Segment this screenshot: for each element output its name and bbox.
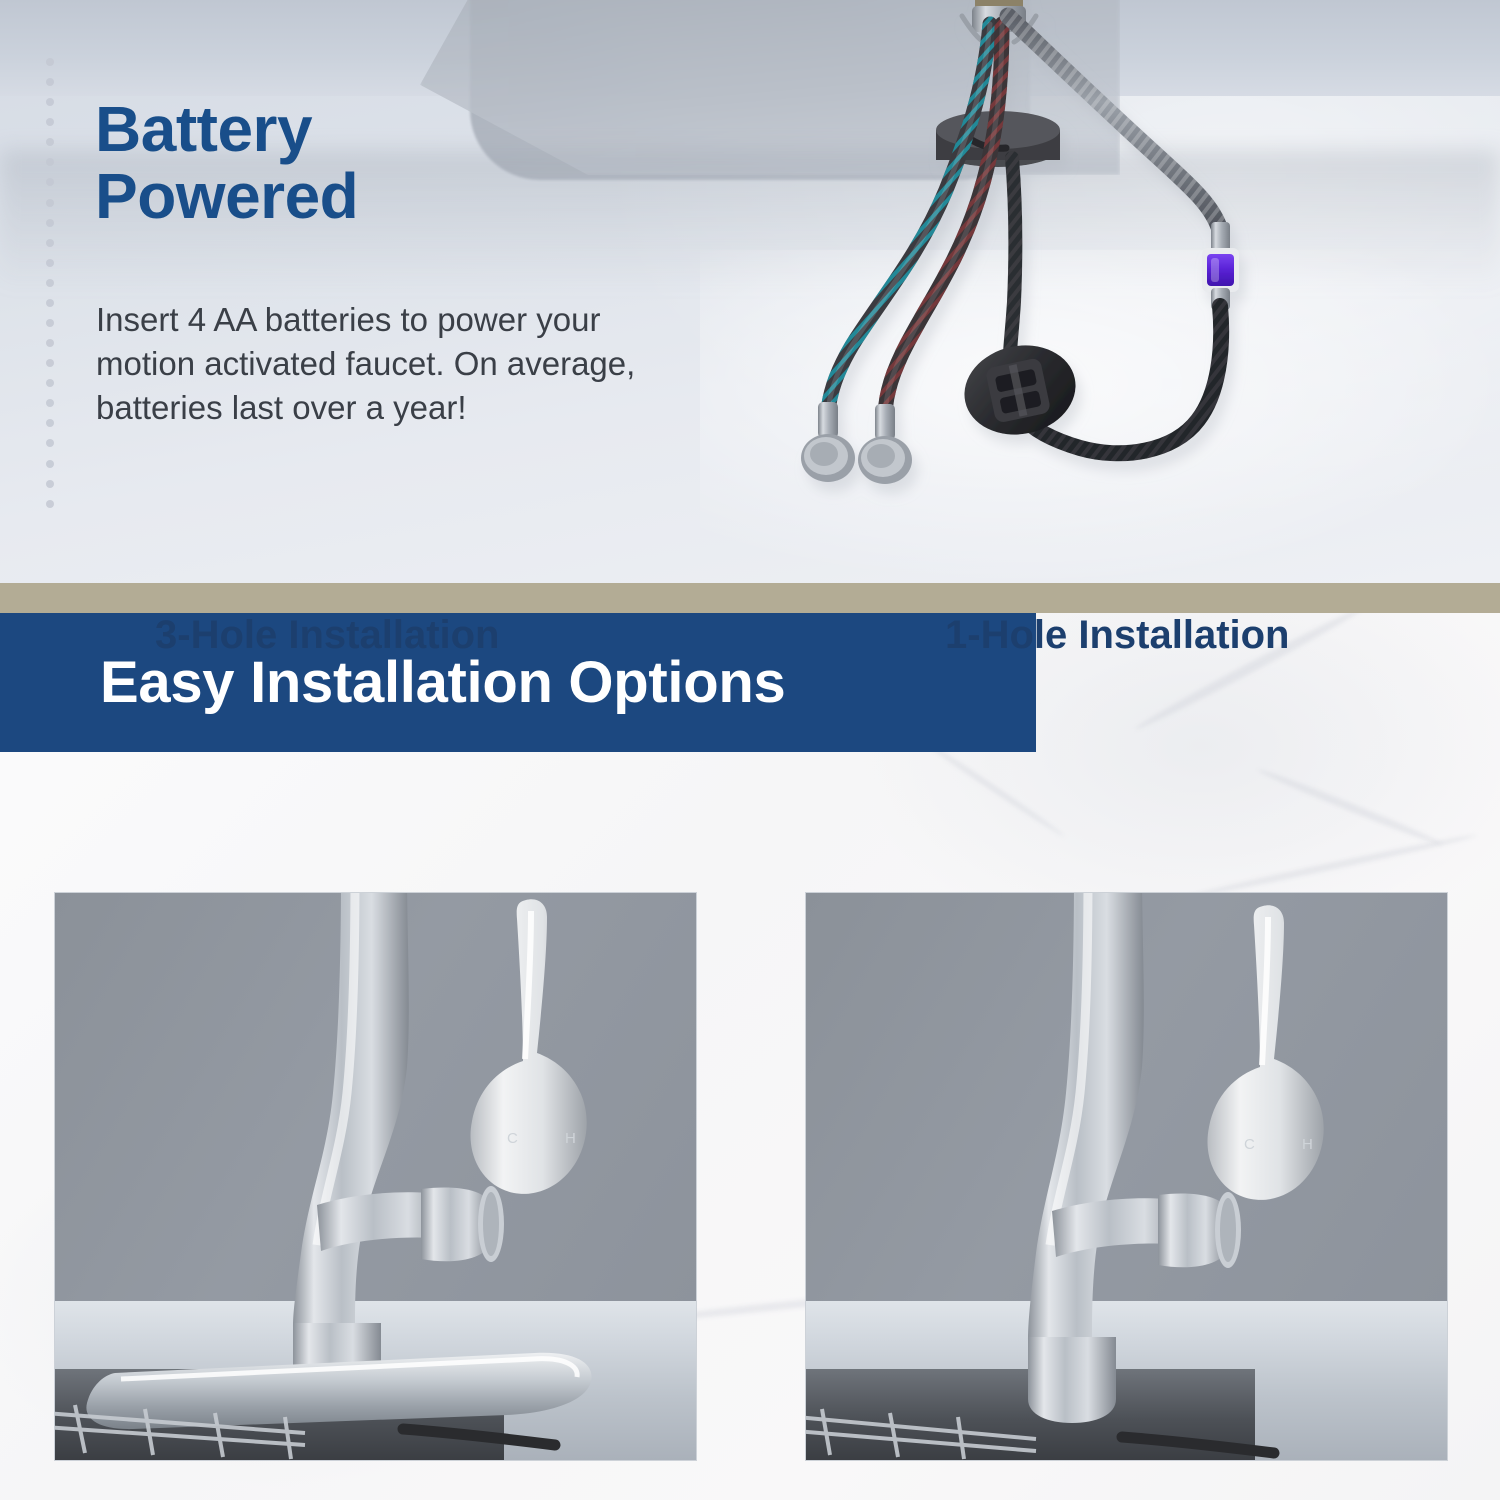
rail-dot [46,178,54,186]
battery-headline: Battery Powered [95,96,695,229]
rail-dot [46,399,54,407]
rail-dot [46,439,54,447]
rail-dot [46,219,54,227]
sink-grid [806,1409,1036,1459]
marble-vein [1183,832,1478,901]
headline-line-1: Battery [95,93,312,165]
heading-1-hole-installation: 1-Hole Installation [945,613,1290,658]
rail-dot [46,58,54,66]
solenoid-valve-box [956,335,1084,444]
rail-dot [46,259,54,267]
hose-ferrule [1211,222,1230,252]
chrome-connector-end [858,404,912,484]
rail-dot [46,239,54,247]
violet-quick-connector [1202,248,1239,292]
hot-marking: H [565,1130,576,1147]
rail-dot [46,279,54,287]
rail-dot [46,299,54,307]
faucet-valve-body [421,1186,504,1262]
headline-line-2: Powered [95,160,358,232]
rail-dot [46,419,54,427]
dotted-rail-decoration [45,58,55,508]
cold-marking: C [1244,1136,1255,1153]
faucet-render-3hole: C H [55,893,696,1460]
rail-dot [46,460,54,468]
rail-dot [46,480,54,488]
battery-description: Insert 4 AA batteries to power your moti… [96,298,676,430]
easy-installation-section: Easy Installation Options 3-Hole Install… [0,613,1500,1500]
rail-dot [46,138,54,146]
heading-3-hole-installation: 3-Hole Installation [155,613,500,658]
sink-accessory-rod [1122,1437,1274,1453]
rail-dot [46,118,54,126]
rail-dot [46,158,54,166]
rail-dot [46,359,54,367]
hose-assembly [801,0,1239,484]
faucet-handle [470,899,586,1194]
faucet-1hole-photo: C H [806,893,1447,1460]
cold-marking: C [507,1130,518,1147]
faucet-valve-body [1158,1192,1241,1268]
rail-dot [46,500,54,508]
faucet-render-1hole: C H [806,893,1447,1460]
rail-dot [46,379,54,387]
installation-banner-title: Easy Installation Options [100,649,785,716]
under-sink-hose-illustration [690,0,1410,510]
rail-dot [46,98,54,106]
marble-vein [1256,766,1444,848]
rail-dot [46,199,54,207]
sink-accessory-rod [403,1429,555,1445]
tan-divider-stripe [0,583,1500,613]
battery-powered-section: Battery Powered Insert 4 AA batteries to… [0,0,1500,583]
rail-dot [46,339,54,347]
faucet-base-column [1028,1337,1116,1423]
deck-plate-escutcheon [86,1353,591,1429]
rail-dot [46,319,54,327]
faucet-handle [1207,905,1323,1200]
chrome-connector-end [801,402,855,482]
rail-dot [46,78,54,86]
faucet-3hole-photo: C H [55,893,696,1460]
hot-marking: H [1302,1136,1313,1153]
